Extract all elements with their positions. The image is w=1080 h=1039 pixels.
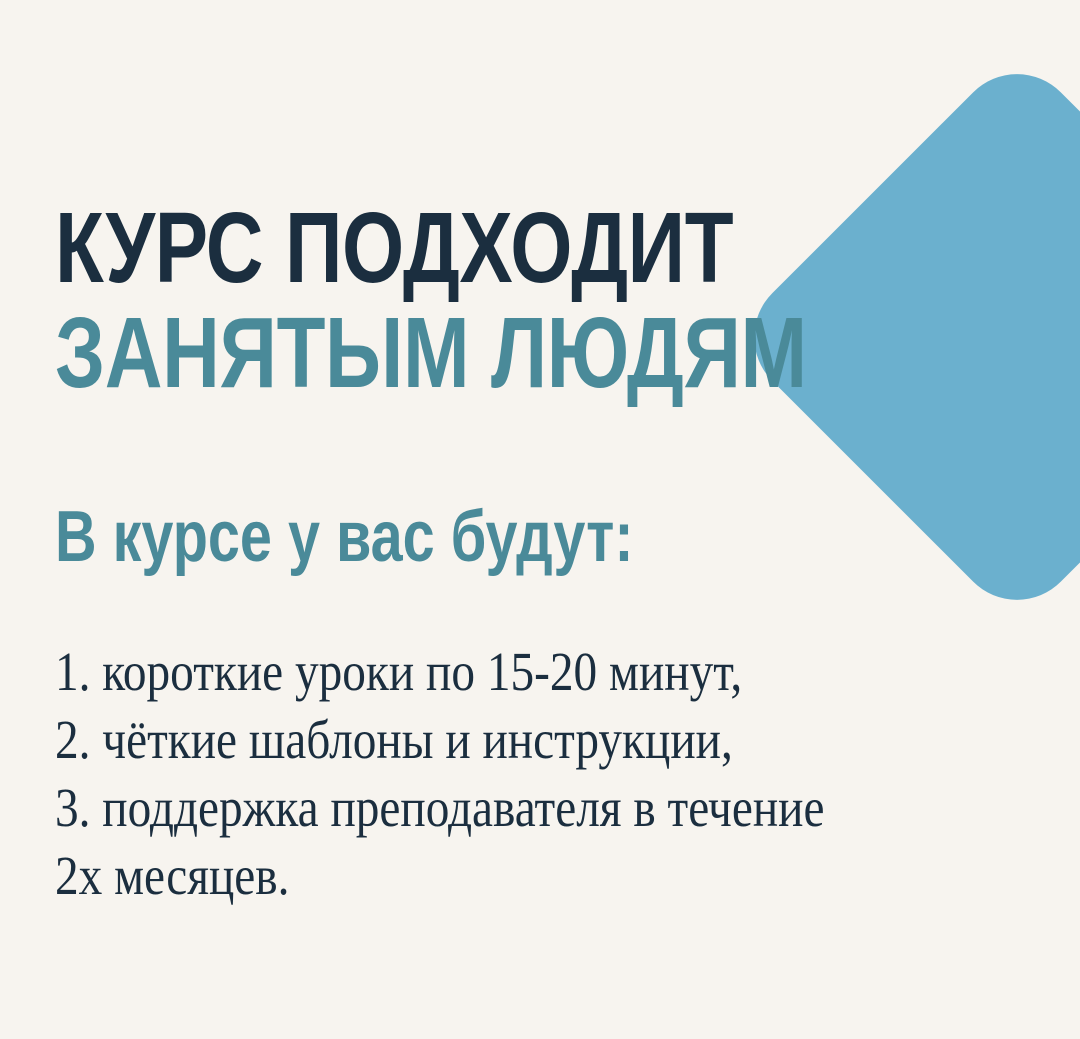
benefits-list: 1. короткие уроки по 15-20 минут, 2. чёт… [55,638,955,910]
promo-slide: КУРС ПОДХОДИТ ЗАНЯТЫМ ЛЮДЯМ В курсе у ва… [0,0,1080,1039]
list-item: 2. чёткие шаблоны и инструкции, [55,706,829,774]
slide-content: КУРС ПОДХОДИТ ЗАНЯТЫМ ЛЮДЯМ В курсе у ва… [0,0,1080,1039]
list-item: 3. поддержка преподавателя в течение [55,774,829,842]
headline-line-1: КУРС ПОДХОДИТ [55,196,711,301]
headline-line-2: ЗАНЯТЫМ ЛЮДЯМ [55,301,711,406]
page-title: КУРС ПОДХОДИТ ЗАНЯТЫМ ЛЮДЯМ [55,196,875,406]
subheading: В курсе у вас будут: [55,498,634,576]
list-item: 2х месяцев. [55,842,829,910]
list-item: 1. короткие уроки по 15-20 минут, [55,638,829,706]
